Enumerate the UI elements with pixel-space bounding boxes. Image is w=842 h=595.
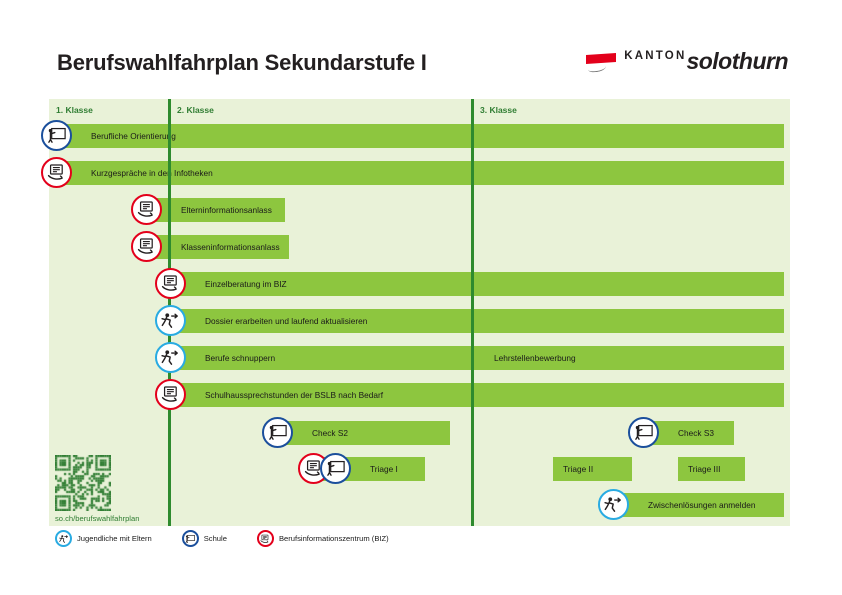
- activity-row-6[interactable]: Dossier erarbeiten und laufend aktualisi…: [169, 309, 784, 333]
- triage-row-3-label: Triage III: [688, 457, 720, 481]
- activity-row-3-label: Elterninformationsanlass: [181, 198, 272, 222]
- qr-url-label: so.ch/berufswahlfahrplan: [55, 514, 139, 523]
- biz-icon: [155, 268, 186, 299]
- page-title: Berufswahlfahrplan Sekundarstufe I: [57, 50, 427, 76]
- activity-row-5[interactable]: Einzelberatung im BIZ: [169, 272, 784, 296]
- column-heading-1: 1. Klasse: [49, 99, 93, 121]
- activity-row-6-label: Dossier erarbeiten und laufend aktualisi…: [205, 309, 367, 333]
- activity-row-7-secondary-label: Lehrstellenbewerbung: [494, 346, 576, 370]
- check-row-1-label: Check S2: [312, 421, 348, 445]
- qr-block[interactable]: so.ch/berufswahlfahrplan: [55, 455, 139, 523]
- biz-icon: [131, 231, 162, 262]
- activity-row-7-label: Berufe schnuppern: [205, 346, 275, 370]
- activity-row-1[interactable]: Berufliche Orientierung: [55, 124, 784, 148]
- column-heading-3: 3. Klasse: [473, 99, 517, 121]
- legend: Jugendliche mit ElternSchuleBerufsinform…: [55, 530, 419, 547]
- biz-icon: [155, 379, 186, 410]
- legend-item-label: Schule: [204, 534, 227, 543]
- qr-code-image[interactable]: [55, 455, 111, 511]
- berufswahlfahrplan-chart: 1. Klasse2. Klasse3. KlasseBerufliche Or…: [49, 99, 790, 526]
- schule-icon: [320, 453, 351, 484]
- activity-row-8[interactable]: Schulhaussprechstunden der BSLB nach Bed…: [169, 383, 784, 407]
- activity-row-1-label: Berufliche Orientierung: [91, 124, 176, 148]
- final-row[interactable]: Zwischenlösungen anmelden: [612, 493, 784, 517]
- triage-row-2-label: Triage II: [563, 457, 593, 481]
- logo-solothurn-text: solothurn: [686, 48, 788, 75]
- biz-icon: [257, 530, 274, 547]
- legend-item-1: Jugendliche mit Eltern: [55, 530, 152, 547]
- legend-item-3: Berufsinformationszentrum (BIZ): [257, 530, 389, 547]
- jugendliche-icon: [155, 342, 186, 373]
- activity-row-2-label: Kurzgespräche in den Infotheken: [91, 161, 213, 185]
- activity-row-5-label: Einzelberatung im BIZ: [205, 272, 287, 296]
- column-divider-3: [471, 99, 474, 526]
- triage-row-2[interactable]: Triage II: [553, 457, 632, 481]
- kanton-solothurn-logo: KANTON solothurn: [586, 48, 788, 75]
- triage-row-3[interactable]: Triage III: [678, 457, 745, 481]
- schule-icon: [628, 417, 659, 448]
- biz-icon: [41, 157, 72, 188]
- activity-row-4[interactable]: Klasseninformationsanlass: [145, 235, 289, 259]
- schule-icon: [41, 120, 72, 151]
- triage-row-1-label: Triage I: [370, 457, 398, 481]
- biz-icon: [131, 194, 162, 225]
- column-heading-2: 2. Klasse: [170, 99, 214, 121]
- legend-item-2: Schule: [182, 530, 227, 547]
- final-row-label: Zwischenlösungen anmelden: [648, 493, 755, 517]
- jugendliche-icon: [598, 489, 629, 520]
- solothurn-flag-icon: [586, 51, 620, 73]
- check-row-2-label: Check S3: [678, 421, 714, 445]
- schule-icon: [182, 530, 199, 547]
- schule-icon: [262, 417, 293, 448]
- legend-item-label: Jugendliche mit Eltern: [77, 534, 152, 543]
- activity-row-8-label: Schulhaussprechstunden der BSLB nach Bed…: [205, 383, 383, 407]
- activity-row-3[interactable]: Elterninformationsanlass: [145, 198, 285, 222]
- logo-kanton-text: KANTON: [624, 50, 686, 62]
- activity-row-2[interactable]: Kurzgespräche in den Infotheken: [55, 161, 784, 185]
- jugendliche-icon: [155, 305, 186, 336]
- activity-row-4-label: Klasseninformationsanlass: [181, 235, 280, 259]
- activity-row-7[interactable]: Berufe schnuppernLehrstellenbewerbung: [169, 346, 784, 370]
- jugendliche-icon: [55, 530, 72, 547]
- check-row-1[interactable]: Check S2: [276, 421, 450, 445]
- legend-item-label: Berufsinformationszentrum (BIZ): [279, 534, 389, 543]
